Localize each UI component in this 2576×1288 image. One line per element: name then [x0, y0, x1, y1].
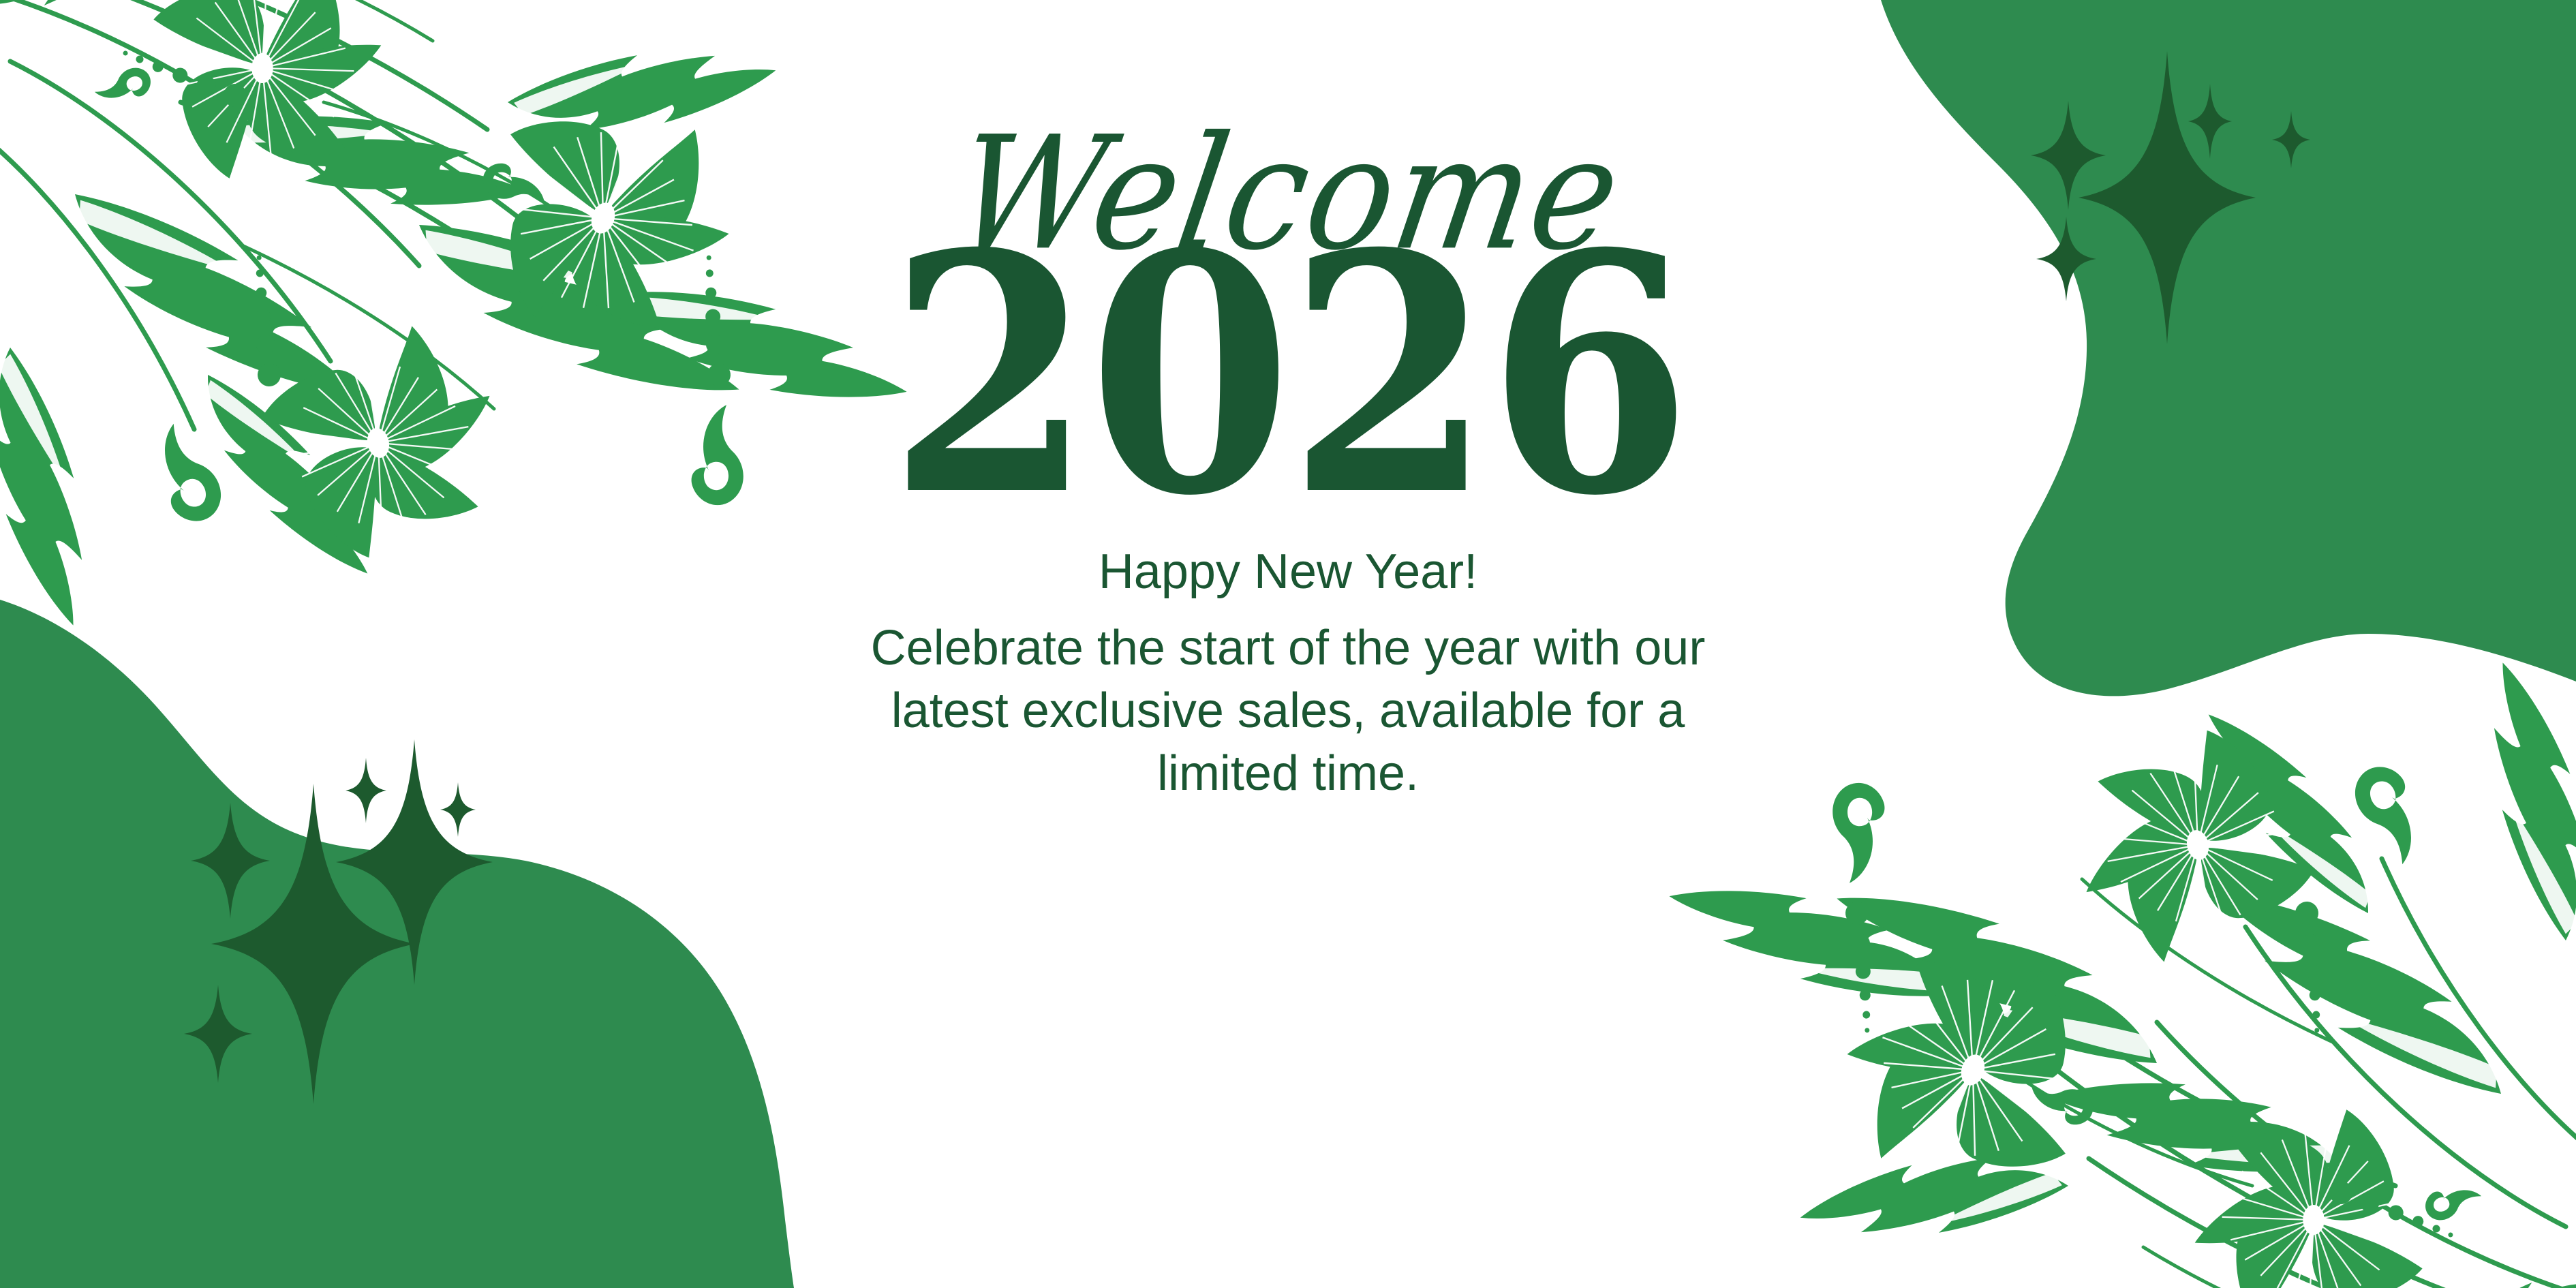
floral-ornaments-layer	[0, 0, 2576, 1288]
new-year-banner: Welcome 2026 Happy New Year! Celebrate t…	[0, 0, 2576, 1288]
floral-ornament-bottom-right	[1658, 654, 2576, 1288]
floral-ornament-top-left	[0, 0, 918, 634]
